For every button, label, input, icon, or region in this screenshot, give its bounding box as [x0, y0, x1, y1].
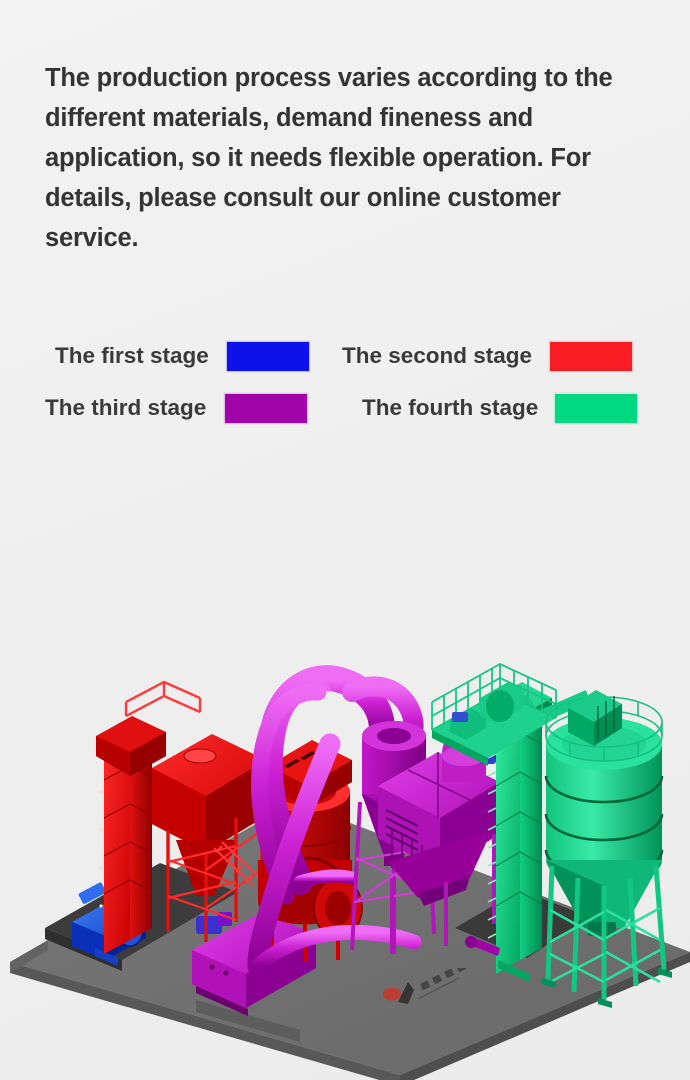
legend-swatch-first-stage: [226, 341, 310, 372]
legend-swatch-third-stage: [224, 393, 308, 424]
mill-fan-inlet: [325, 891, 351, 925]
legend-swatch-second-stage: [549, 341, 633, 372]
legend-item-fourth-stage[interactable]: The fourth stage: [340, 382, 655, 434]
elevator-top-handrail: [126, 682, 200, 716]
legend-item-third-stage[interactable]: The third stage: [40, 382, 340, 434]
page-root: The production process varies according …: [0, 0, 690, 1080]
legend-label-fourth-stage: The fourth stage: [362, 395, 538, 421]
legend-item-second-stage[interactable]: The second stage: [340, 330, 655, 382]
plant-diagram-svg: [0, 530, 690, 1080]
intro-paragraph: The production process varies according …: [45, 58, 645, 258]
plant-diagram: [0, 530, 690, 1080]
connector-flange: [465, 936, 477, 948]
legend-label-second-stage: The second stage: [342, 343, 532, 369]
legend-item-first-stage[interactable]: The first stage: [40, 330, 340, 382]
legend-swatch-fourth-stage: [554, 393, 638, 424]
cyclone-vortex-finder: [377, 728, 411, 744]
duct-mill-branch: [300, 876, 352, 882]
platform-drum: [486, 690, 514, 722]
legend-label-third-stage: The third stage: [45, 395, 206, 421]
hopper-inlet-port: [184, 749, 216, 763]
legend-label-first-stage: The first stage: [55, 343, 209, 369]
platform-motor: [452, 712, 468, 722]
stage-legend: The first stage The second stage The thi…: [40, 330, 655, 434]
